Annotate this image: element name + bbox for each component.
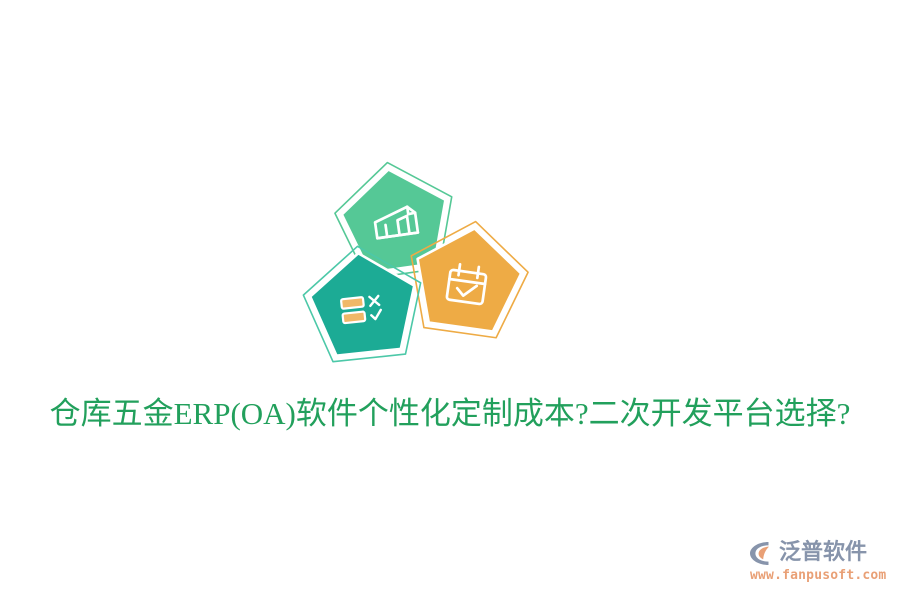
illustration-pentagon-cluster: [296, 158, 536, 380]
watermark-brand-name: 泛普软件: [779, 539, 867, 567]
watermark-brand-row: 泛普软件: [748, 538, 888, 568]
watermark: 泛普软件 www.fanpusoft.com: [748, 538, 888, 588]
fanpu-swoosh-logo-icon: [748, 539, 776, 567]
page-title: 仓库五金ERP(OA)软件个性化定制成本?二次开发平台选择?: [0, 392, 900, 436]
poster-canvas: 仓库五金ERP(OA)软件个性化定制成本?二次开发平台选择? 泛普软件 www.…: [0, 0, 900, 600]
watermark-url: www.fanpusoft.com: [748, 568, 888, 584]
